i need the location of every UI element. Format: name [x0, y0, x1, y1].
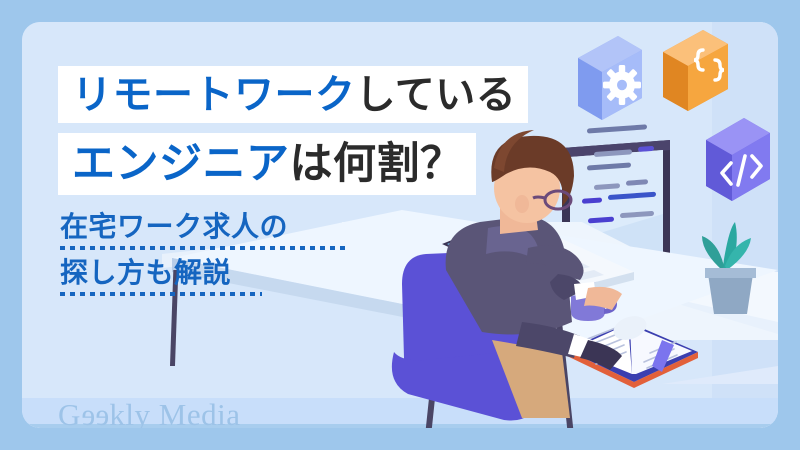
headline-line2-rest: は何割？ — [290, 143, 464, 186]
logo-letter-e2: e — [95, 397, 109, 428]
subtitle-line2: 探し方も解説 — [60, 256, 231, 289]
subtitle-line1: 在宅ワーク求人の — [60, 210, 288, 243]
logo-rest: kly Media — [109, 397, 240, 428]
headline-box-1: リモートワークしている — [58, 66, 528, 123]
subtitle-dotted-underline-1 — [60, 246, 348, 250]
subtitle-dotted-underline-2 — [60, 292, 262, 296]
headline-line1-accent: リモートワーク — [72, 75, 356, 115]
subtitle-row-2: 探し方も解説 — [60, 256, 348, 296]
banner-canvas: リモートワークしている エンジニアは何割？ 在宅ワーク求人の 探し方も解説 Ge… — [0, 0, 800, 450]
headline-line1-rest: している — [356, 75, 517, 115]
headline-box-2: エンジニアは何割？ — [58, 133, 476, 195]
inner-panel: リモートワークしている エンジニアは何割？ 在宅ワーク求人の 探し方も解説 Ge… — [22, 22, 778, 428]
geekly-media-logo: Geekly Media — [58, 397, 240, 428]
logo-letter-e1: e — [81, 397, 95, 428]
subtitle-block: 在宅ワーク求人の 探し方も解説 — [60, 210, 348, 302]
logo-letter-g: G — [58, 397, 81, 428]
headline-line2-accent: エンジニア — [72, 143, 290, 186]
subtitle-row-1: 在宅ワーク求人の — [60, 210, 348, 250]
